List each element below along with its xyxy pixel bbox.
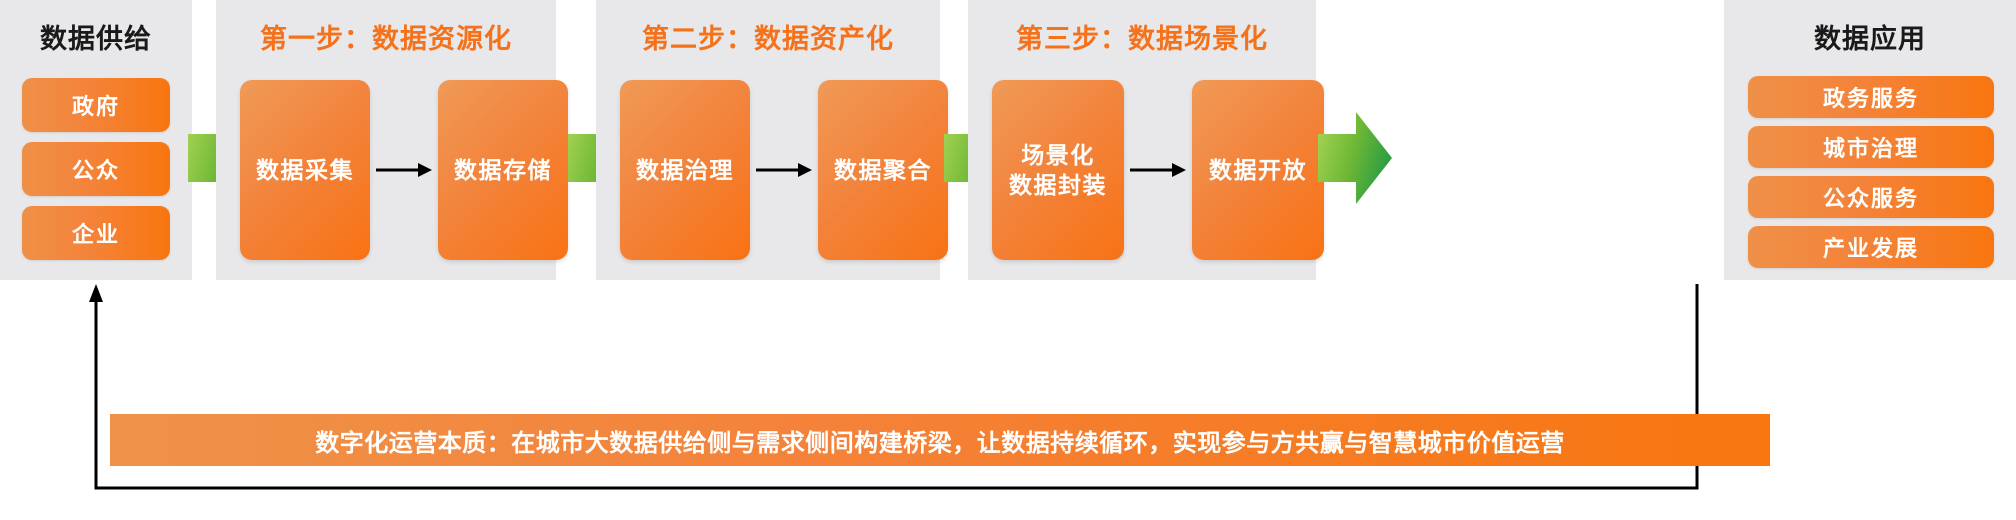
panel-title-data-supply: 数据供给 xyxy=(0,22,192,56)
application-item-city-governance[interactable]: 城市治理 xyxy=(1748,126,1994,168)
application-pill-list: 政务服务 城市治理 公众服务 产业发展 xyxy=(1748,76,1994,270)
application-item-government-service[interactable]: 政务服务 xyxy=(1748,76,1994,118)
bottom-banner: 数字化运营本质：在城市大数据供给侧与需求侧间构建桥梁，让数据持续循环，实现参与方… xyxy=(110,414,1770,466)
panel-data-application: 数据应用 政务服务 城市治理 公众服务 产业发展 xyxy=(1724,0,2016,280)
step-3-connector-arrow xyxy=(1130,162,1186,178)
application-item-public-service[interactable]: 公众服务 xyxy=(1748,176,1994,218)
step-1-card-1[interactable]: 数据采集 xyxy=(240,80,370,260)
step-2-card-2[interactable]: 数据聚合 xyxy=(818,80,948,260)
step-3-card-2[interactable]: 数据开放 xyxy=(1192,80,1324,260)
step-3-card-2-line1: 数据开放 xyxy=(1209,157,1307,183)
panel-data-supply: 数据供给 政府 公众 企业 xyxy=(0,0,192,280)
step-3-card-1-line2: 数据封装 xyxy=(1009,170,1107,200)
step-2-card-1[interactable]: 数据治理 xyxy=(620,80,750,260)
step-1-card-2[interactable]: 数据存储 xyxy=(438,80,568,260)
supply-item-government[interactable]: 政府 xyxy=(22,78,170,132)
panel-title-step-2: 第二步：数据资产化 xyxy=(596,22,940,56)
panel-step-3: 第三步：数据场景化 场景化 数据封装 数据开放 xyxy=(968,0,1316,280)
panel-title-step-3: 第三步：数据场景化 xyxy=(968,22,1316,56)
step-1-card-2-line1: 数据存储 xyxy=(454,157,552,183)
step-1-card-1-line1: 数据采集 xyxy=(256,157,354,183)
step-2-connector-arrow xyxy=(756,162,812,178)
supply-item-public[interactable]: 公众 xyxy=(22,142,170,196)
green-arrow-step3-to-application xyxy=(1316,110,1394,206)
step-3-card-1[interactable]: 场景化 数据封装 xyxy=(992,80,1124,260)
supply-item-enterprise[interactable]: 企业 xyxy=(22,206,170,260)
step-2-card-2-line1: 数据聚合 xyxy=(834,157,932,183)
pipeline-row: 数据供给 政府 公众 企业 第一步：数据资源化 数据采集 xyxy=(0,0,2016,280)
step-2-card-1-line1: 数据治理 xyxy=(636,157,734,183)
panel-title-step-1: 第一步：数据资源化 xyxy=(216,22,556,56)
panel-step-2: 第二步：数据资产化 数据治理 数据聚合 xyxy=(596,0,940,280)
step-1-connector-arrow xyxy=(376,162,432,178)
panel-title-data-application: 数据应用 xyxy=(1724,22,2016,56)
supply-pill-list: 政府 公众 企业 xyxy=(22,78,170,266)
application-item-industry-development[interactable]: 产业发展 xyxy=(1748,226,1994,268)
feedback-loop-arrow xyxy=(0,280,2016,520)
step-3-card-1-line1: 场景化 xyxy=(1021,142,1095,168)
panel-step-1: 第一步：数据资源化 数据采集 数据存储 xyxy=(216,0,556,280)
bottom-banner-text: 数字化运营本质：在城市大数据供给侧与需求侧间构建桥梁，让数据持续循环，实现参与方… xyxy=(315,423,1565,458)
